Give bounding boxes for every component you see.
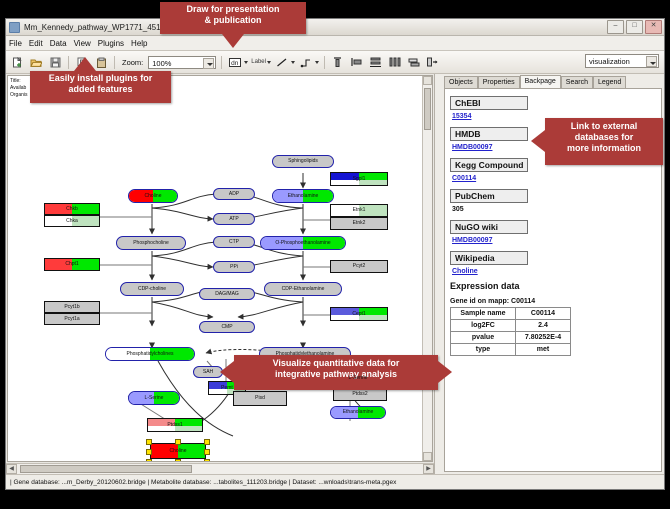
expression-data-title: Expression data <box>450 281 651 291</box>
chevron-down-icon[interactable] <box>244 61 248 64</box>
node-cdp-choline[interactable]: CDP-choline <box>120 282 184 296</box>
node-choline-bottom-label: Choline <box>170 449 187 454</box>
node-chkb[interactable]: Chkb <box>44 203 100 215</box>
node-chpt1-label: Chpt1 <box>65 262 78 267</box>
callout-links-line3: more information <box>545 143 663 154</box>
node-ctp[interactable]: CTP <box>213 236 255 248</box>
selection-handle-w[interactable] <box>146 449 152 455</box>
datanode-icon[interactable]: dn <box>227 54 243 70</box>
side-panel-tabs: Objects Properties Backpage Search Legen… <box>435 74 664 88</box>
scroll-thumb-vertical[interactable] <box>424 88 431 130</box>
statusbar-text: | Gene database: ...m_Derby_20120602.bri… <box>10 479 396 486</box>
node-phosphocholine[interactable]: Phosphocholine <box>116 236 186 250</box>
node-l-serine-right-label: L-Serine <box>349 376 368 381</box>
node-pemt-label: Pemt <box>221 386 233 391</box>
new-document-icon[interactable] <box>9 54 25 70</box>
callout-links: Link to external databases for more info… <box>545 118 663 165</box>
visualization-combobox[interactable]: visualization <box>585 54 659 68</box>
scroll-thumb-horizontal[interactable] <box>20 465 192 473</box>
node-chka-label: Chka <box>66 219 78 224</box>
node-etnk1[interactable]: Etnk1 <box>330 204 388 217</box>
interaction-tool[interactable] <box>298 54 319 70</box>
node-etnk1-label: Etnk1 <box>353 208 366 213</box>
node-ptdss1[interactable]: Ptdss1 <box>147 418 203 432</box>
callout-visualize: Visualize quantitative data for integrat… <box>234 355 438 390</box>
table-row: type met <box>451 344 571 356</box>
distribute-vertical-icon[interactable] <box>368 54 384 70</box>
db-group-nugo: NuGO wiki HMDB00097 <box>450 217 651 244</box>
distribute-horizontal-icon[interactable] <box>387 54 403 70</box>
exp-value-type: met <box>516 344 571 356</box>
open-folder-icon[interactable] <box>28 54 44 70</box>
db-group-wikipedia: Wikipedia Choline <box>450 248 651 275</box>
table-row: Sample name C00114 <box>451 308 571 320</box>
tab-search[interactable]: Search <box>561 76 593 88</box>
callout-plugins-arrow <box>74 57 96 71</box>
tab-legend[interactable]: Legend <box>593 76 626 88</box>
node-cept1[interactable]: Cept1 <box>330 307 388 321</box>
node-chkb-label: Chkb <box>66 207 78 212</box>
pathway-canvas[interactable]: Title: Availab Organis <box>7 75 433 462</box>
exp-value-sample-name: C00114 <box>516 308 571 320</box>
node-ethanolamine-bottom-label: Ethanolamine <box>343 410 374 415</box>
app-icon <box>9 22 20 33</box>
zoom-combobox[interactable]: 100% <box>148 56 216 69</box>
node-pcyt1a[interactable]: Pcyt1a <box>44 313 100 325</box>
chevron-down-icon[interactable] <box>646 56 657 67</box>
node-pcyt1b[interactable]: Pcyt1b <box>44 301 100 313</box>
zoom-label: Zoom: <box>122 58 143 67</box>
expression-table: Sample name C00114 log2FC 2.4 pvalue 7.8… <box>450 307 571 356</box>
db-link-kegg[interactable]: C00114 <box>452 175 651 182</box>
node-ethanolamine-bottom[interactable]: Ethanolamine <box>330 406 386 419</box>
tab-backpage[interactable]: Backpage <box>520 75 561 88</box>
window-titlebar: Mm_Kennedy_pathway_WP1771_45176.gpml – □… <box>6 19 664 36</box>
gene-id-on-mapp: Gene id on mapp: C00114 <box>450 298 651 305</box>
callout-visualize-line2: integrative pathway analysis <box>234 369 438 380</box>
menu-view[interactable]: View <box>74 39 91 48</box>
node-chpt1[interactable]: Chpt1 <box>44 258 100 271</box>
window-controls: – □ ✕ <box>607 20 662 34</box>
canvas-column: Title: Availab Organis <box>6 74 434 474</box>
canvas-vertical-scrollbar[interactable] <box>422 76 432 461</box>
exp-key-sample-name: Sample name <box>451 308 516 320</box>
node-l-serine-left-label: L-Serine <box>145 396 164 401</box>
node-chka[interactable]: Chka <box>44 215 100 227</box>
node-phosphatidylcholines-label: Phosphatidylcholines <box>127 352 174 357</box>
menu-plugins[interactable]: Plugins <box>98 39 124 48</box>
node-dagmag[interactable]: DAG/MAG <box>199 288 255 300</box>
zoom-value: 100% <box>152 59 171 68</box>
node-pcyt2[interactable]: Pcyt2 <box>330 260 388 273</box>
menubar: File Edit Data View Plugins Help <box>6 36 664 51</box>
toolbar-separator <box>68 56 69 69</box>
node-cmp[interactable]: CMP <box>199 321 255 333</box>
minimize-button[interactable]: – <box>607 20 624 34</box>
node-choline-top[interactable]: Choline <box>128 189 178 203</box>
chevron-down-icon[interactable] <box>291 61 295 64</box>
callout-draw-arrow <box>222 34 244 48</box>
db-label-nugo: NuGO wiki <box>450 220 528 234</box>
node-sgpl1[interactable]: Sgpl1 <box>330 172 388 186</box>
toolbar-separator <box>221 56 222 69</box>
selection-handle-e[interactable] <box>204 449 210 455</box>
pathway-graph: Sphingolipids Sgpl1 <box>8 76 433 462</box>
callout-draw-line2: & publication <box>160 15 306 26</box>
chevron-down-icon[interactable] <box>267 61 271 64</box>
stack-icon[interactable] <box>406 54 422 70</box>
node-atp[interactable]: ATP <box>213 213 255 225</box>
node-l-serine-left[interactable]: L-Serine <box>128 391 180 405</box>
db-label-pubchem: PubChem <box>450 189 528 203</box>
line-tool[interactable] <box>274 54 295 70</box>
node-etnk2[interactable]: Etnk2 <box>330 217 388 230</box>
node-cept1-label: Cept1 <box>352 312 365 317</box>
node-pisd[interactable]: Pisd <box>233 391 287 406</box>
db-label-kegg: Kegg Compound <box>450 158 528 172</box>
callout-links-arrow <box>531 130 545 152</box>
node-o-phosphoethanolamine[interactable]: O-Phosphoethanolamine <box>260 236 346 250</box>
toolbar-separator <box>324 56 325 69</box>
table-row: log2FC 2.4 <box>451 320 571 332</box>
db-label-wikipedia: Wikipedia <box>450 251 528 265</box>
label-tool[interactable]: Label <box>251 59 271 65</box>
tab-properties[interactable]: Properties <box>478 76 520 88</box>
db-label-hmdb: HMDB <box>450 127 528 141</box>
node-ptdss1-label: Ptdss1 <box>167 423 182 428</box>
toolbar-separator <box>114 56 115 69</box>
db-link-wikipedia[interactable]: Choline <box>452 268 651 275</box>
line-icon[interactable] <box>274 54 290 70</box>
node-phosphatidylcholines[interactable]: Phosphatidylcholines <box>105 347 195 361</box>
callout-visualize-line1: Visualize quantitative data for <box>234 358 438 369</box>
node-adp[interactable]: ADP <box>213 188 255 200</box>
menu-data[interactable]: Data <box>50 39 67 48</box>
align-left-icon[interactable] <box>349 54 365 70</box>
node-o-phosphoethanolamine-label: O-Phosphoethanolamine <box>275 241 330 246</box>
selection-handle-n[interactable] <box>175 439 181 445</box>
selection-handle-ne[interactable] <box>204 439 210 445</box>
scroll-right-button[interactable]: ▶ <box>423 464 434 474</box>
datanode-tool[interactable]: dn <box>227 54 248 70</box>
callout-plugins-line2: added features <box>30 84 171 95</box>
callout-visualize-arrow-left <box>220 361 234 383</box>
menu-help[interactable]: Help <box>131 39 147 48</box>
node-cdp-ethanolamine[interactable]: CDP-Ethanolamine <box>264 282 342 296</box>
selection-handle-sw[interactable] <box>146 459 152 462</box>
save-icon[interactable] <box>47 54 63 70</box>
db-group-chebi: ChEBI 15354 <box>450 93 651 120</box>
node-sgpl1-label: Sgpl1 <box>353 177 366 182</box>
callout-draw-line1: Draw for presentation <box>160 4 306 15</box>
db-group-pubchem: PubChem 305 <box>450 186 651 213</box>
exp-key-log2fc: log2FC <box>451 320 516 332</box>
chevron-down-icon[interactable] <box>203 58 214 69</box>
callout-links-line1: Link to external <box>545 121 663 132</box>
tab-objects[interactable]: Objects <box>444 76 478 88</box>
statusbar: | Gene database: ...m_Derby_20120602.bri… <box>6 474 664 489</box>
maximize-button[interactable]: □ <box>626 20 643 34</box>
node-choline-top-label: Choline <box>145 194 162 199</box>
node-ethanolamine-top[interactable]: Ethanolamine <box>272 189 334 203</box>
close-button[interactable]: ✕ <box>645 20 662 34</box>
selection-handle-nw[interactable] <box>146 439 152 445</box>
screenshot-root: Mm_Kennedy_pathway_WP1771_45176.gpml – □… <box>0 0 670 509</box>
callout-links-line2: databases for <box>545 132 663 143</box>
visualization-value: visualization <box>589 57 630 66</box>
table-row: pvalue 7.80252E-4 <box>451 332 571 344</box>
scroll-left-button[interactable]: ◀ <box>6 464 17 474</box>
menu-edit[interactable]: Edit <box>29 39 43 48</box>
label-tool-text: Label <box>251 59 266 65</box>
order-icon[interactable] <box>425 54 441 70</box>
exp-key-type: type <box>451 344 516 356</box>
exp-key-pvalue: pvalue <box>451 332 516 344</box>
callout-draw: Draw for presentation & publication <box>160 2 306 34</box>
scroll-down-button[interactable] <box>423 452 432 461</box>
node-ppi[interactable]: PPi <box>213 261 255 273</box>
exp-value-log2fc: 2.4 <box>516 320 571 332</box>
node-sah[interactable]: SAH <box>193 366 223 378</box>
canvas-horizontal-scrollbar[interactable]: ◀ ▶ <box>6 463 434 474</box>
db-value-pubchem: 305 <box>452 206 651 213</box>
callout-visualize-arrow-right <box>438 361 452 383</box>
node-sphingolipids[interactable]: Sphingolipids <box>272 155 334 168</box>
exp-value-pvalue: 7.80252E-4 <box>516 332 571 344</box>
selection-handle-se[interactable] <box>204 459 210 462</box>
node-ethanolamine-top-label: Ethanolamine <box>288 194 319 199</box>
node-choline-bottom[interactable]: Choline <box>150 443 206 459</box>
db-link-nugo[interactable]: HMDB00097 <box>452 237 651 244</box>
callout-plugins-line1: Easily install plugins for <box>30 73 171 84</box>
interaction-icon[interactable] <box>298 54 314 70</box>
db-label-chebi: ChEBI <box>450 96 528 110</box>
svg-text:dn: dn <box>231 60 239 67</box>
scroll-up-button[interactable] <box>423 76 432 85</box>
align-top-icon[interactable] <box>330 54 346 70</box>
selection-handle-s[interactable] <box>175 459 181 462</box>
callout-plugins: Easily install plugins for added feature… <box>30 71 171 103</box>
menu-file[interactable]: File <box>9 39 22 48</box>
chevron-down-icon[interactable] <box>315 61 319 64</box>
